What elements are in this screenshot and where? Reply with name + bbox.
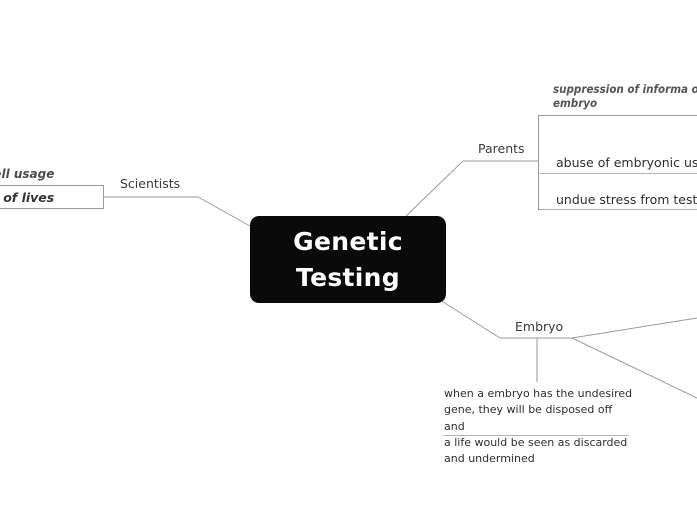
parents-topic: suppression of informa of embryo bbox=[553, 82, 697, 110]
branch-label-scientists[interactable]: Scientists bbox=[120, 176, 180, 191]
embryo-note[interactable]: when a embryo has the undesired gene, th… bbox=[444, 386, 634, 467]
parents-item-rule-1 bbox=[540, 209, 697, 210]
branch-label-embryo[interactable]: Embryo bbox=[515, 319, 563, 334]
edge-scientists bbox=[112, 197, 250, 226]
mindmap-canvas: Genetic Testing ...bryonic cell usage ..… bbox=[0, 0, 697, 520]
scientists-topic: ...bryonic cell usage bbox=[0, 167, 98, 181]
center-node[interactable]: Genetic Testing bbox=[250, 216, 446, 303]
edge-parents bbox=[406, 161, 538, 216]
parents-item-rule-0 bbox=[540, 173, 697, 174]
parents-item-0[interactable]: abuse of embryonic use bbox=[556, 155, 697, 170]
branch-label-parents[interactable]: Parents bbox=[478, 141, 525, 156]
parents-item-1[interactable]: undue stress from test results bbox=[556, 192, 697, 207]
edge-embryo-sub-1 bbox=[572, 318, 697, 338]
scientists-item-0[interactable]: ...ipulation of lives bbox=[0, 190, 102, 205]
center-node-label: Genetic Testing bbox=[293, 224, 403, 295]
embryo-note-rule bbox=[443, 435, 629, 436]
